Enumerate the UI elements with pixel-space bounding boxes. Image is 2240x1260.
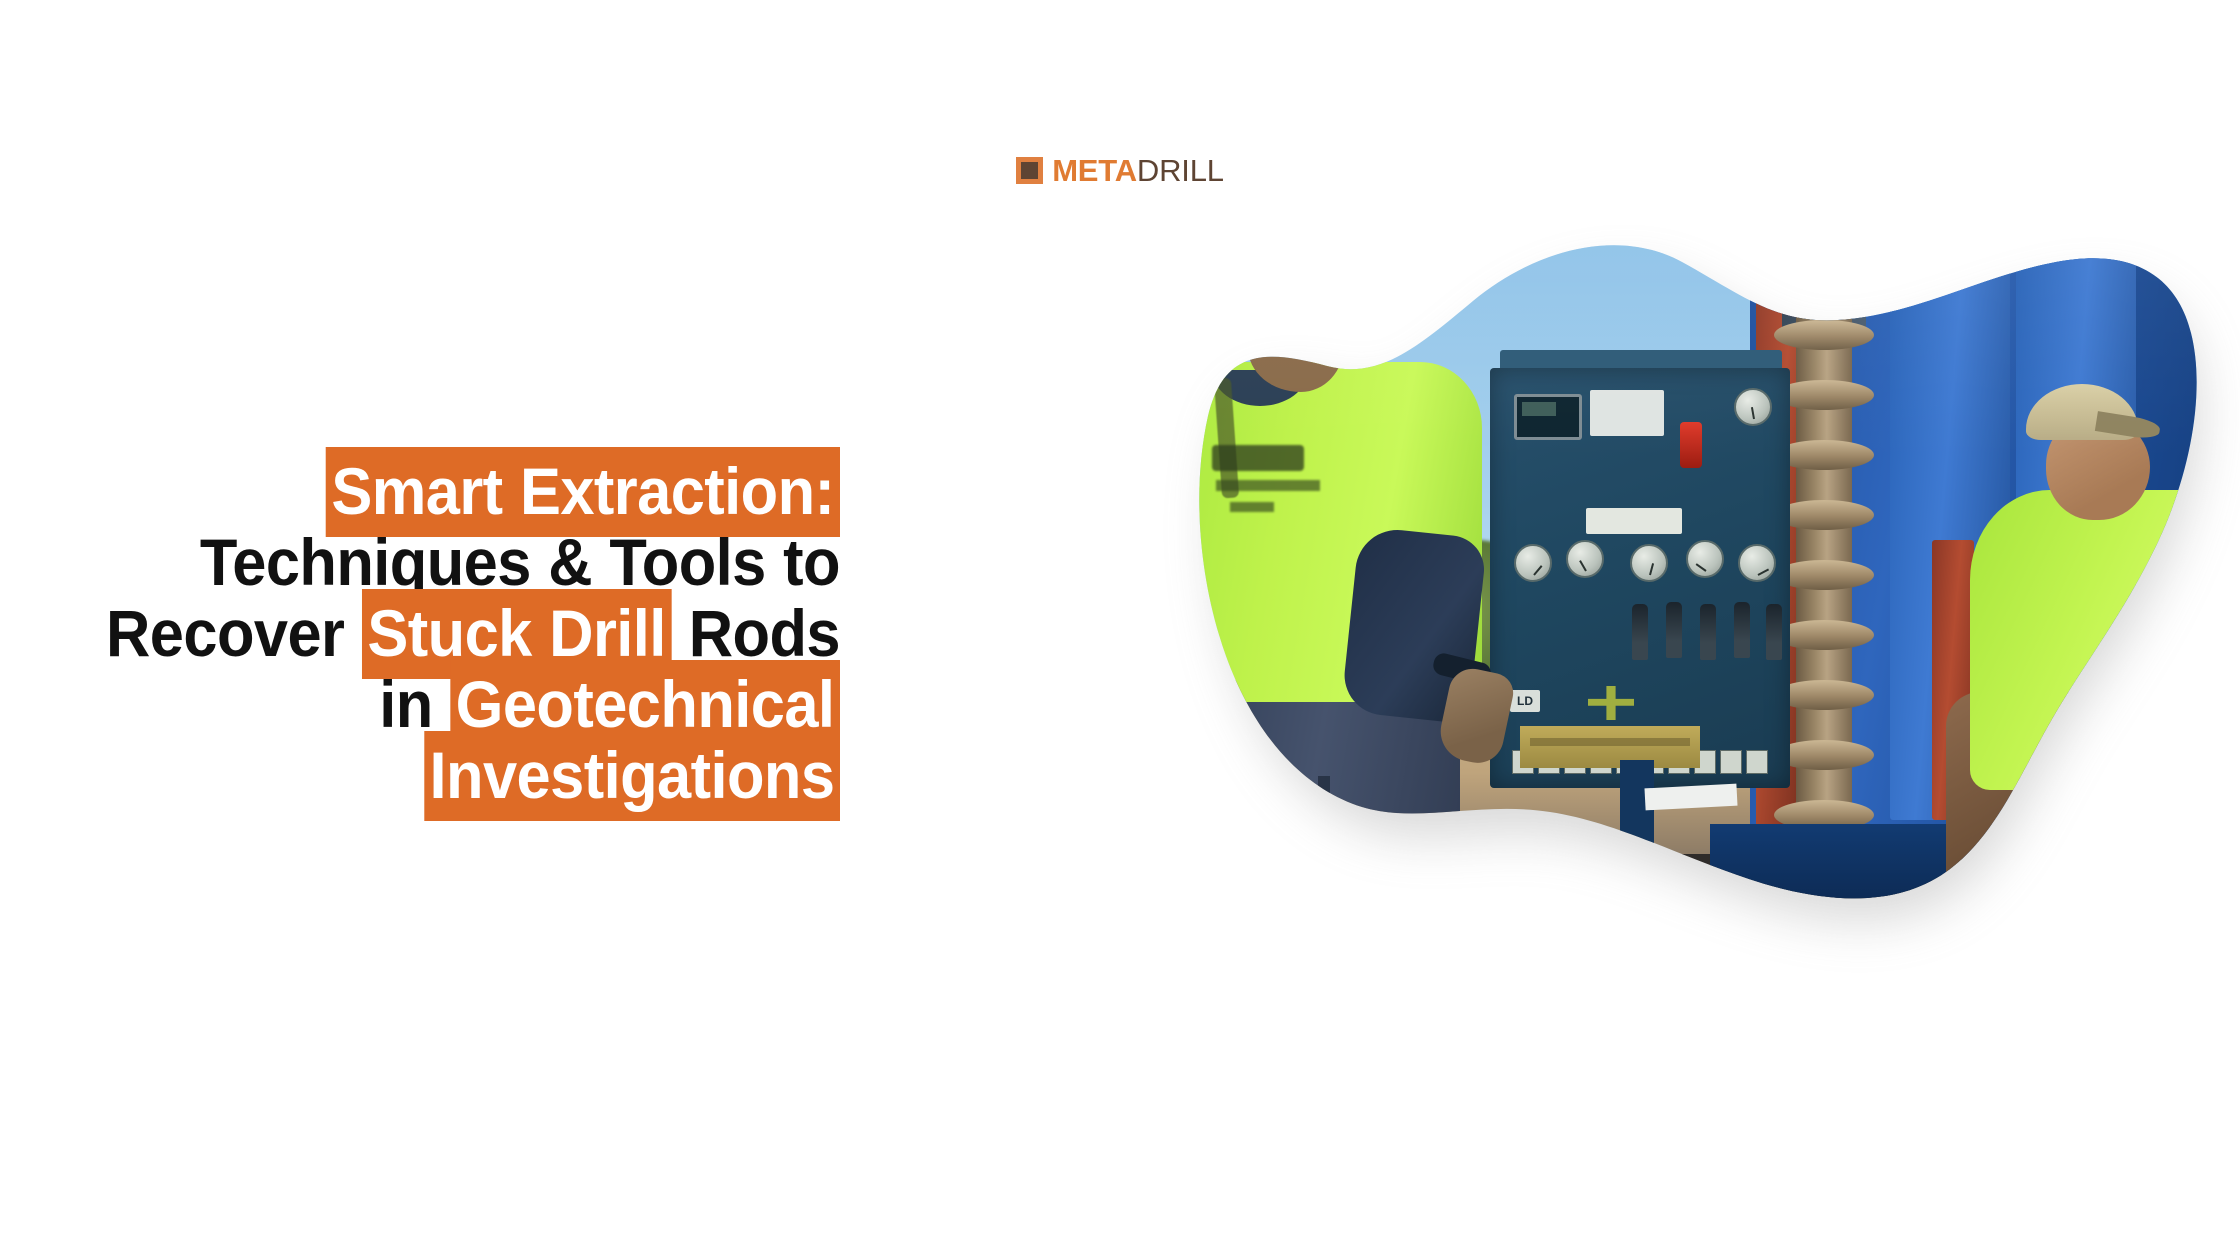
panel-gauge (1514, 544, 1552, 582)
worker-left-shirt-print-3 (1230, 502, 1274, 512)
panel-emergency-stop (1680, 422, 1702, 468)
rig-control-panel: LD (1490, 368, 1790, 788)
worker-left-sunglasses (1313, 312, 1355, 332)
panel-switch (1746, 750, 1768, 774)
panel-control-lever (1700, 604, 1716, 660)
hero-image: LD (1190, 240, 2200, 980)
brand-name: METADRILL (1052, 155, 1224, 186)
panel-control-lever (1734, 602, 1750, 658)
panel-lcd-display (1514, 394, 1582, 440)
brand-name-drill: DRILL (1137, 153, 1224, 188)
worker-left-pants (1210, 680, 1460, 980)
panel-gauge (1734, 388, 1772, 426)
panel-control-lever (1666, 602, 1682, 658)
hero-image-clip: LD (1190, 240, 2200, 980)
headline-segment-highlight-3: Geotechnical Investigations (424, 660, 840, 821)
panel-placard-1 (1590, 390, 1664, 436)
auger-flight (1774, 320, 1874, 350)
drill-rig-photo: LD (1190, 240, 2200, 980)
panel-gauge (1738, 544, 1776, 582)
auger-shaft (1796, 250, 1852, 850)
worker-left-head (1248, 294, 1344, 392)
worker-left-shirt-print-1 (1212, 445, 1304, 471)
square-in-square-icon-inner (1021, 162, 1038, 179)
worker-right-hivis-shirt (1970, 490, 2200, 790)
panel-control-lever (1632, 604, 1648, 660)
headline-segment-highlight-1: Smart Extraction: (326, 447, 840, 537)
brand-name-meta: META (1052, 153, 1137, 188)
headline-block: Smart Extraction: Techniques & Tools to … (40, 456, 840, 811)
panel-gauge (1686, 540, 1724, 578)
panel-gauge (1566, 540, 1604, 578)
panel-placard-2 (1586, 508, 1682, 534)
panel-gauge (1630, 544, 1668, 582)
wooden-pallet (1520, 726, 1700, 768)
panel-control-lever (1766, 604, 1782, 660)
square-in-square-icon (1016, 157, 1043, 184)
worker-left-shirt-print-2 (1216, 480, 1320, 491)
panel-valve-handle (1588, 686, 1634, 720)
photo-ground-shadow (1190, 854, 2200, 980)
page-title: Smart Extraction: Techniques & Tools to … (96, 456, 840, 811)
worker-left-cap (1250, 288, 1342, 328)
panel-badge: LD (1510, 690, 1540, 712)
rig-outrigger-stand (1620, 760, 1654, 940)
brand-logo: METADRILL (0, 155, 2240, 186)
panel-switch (1720, 750, 1742, 774)
